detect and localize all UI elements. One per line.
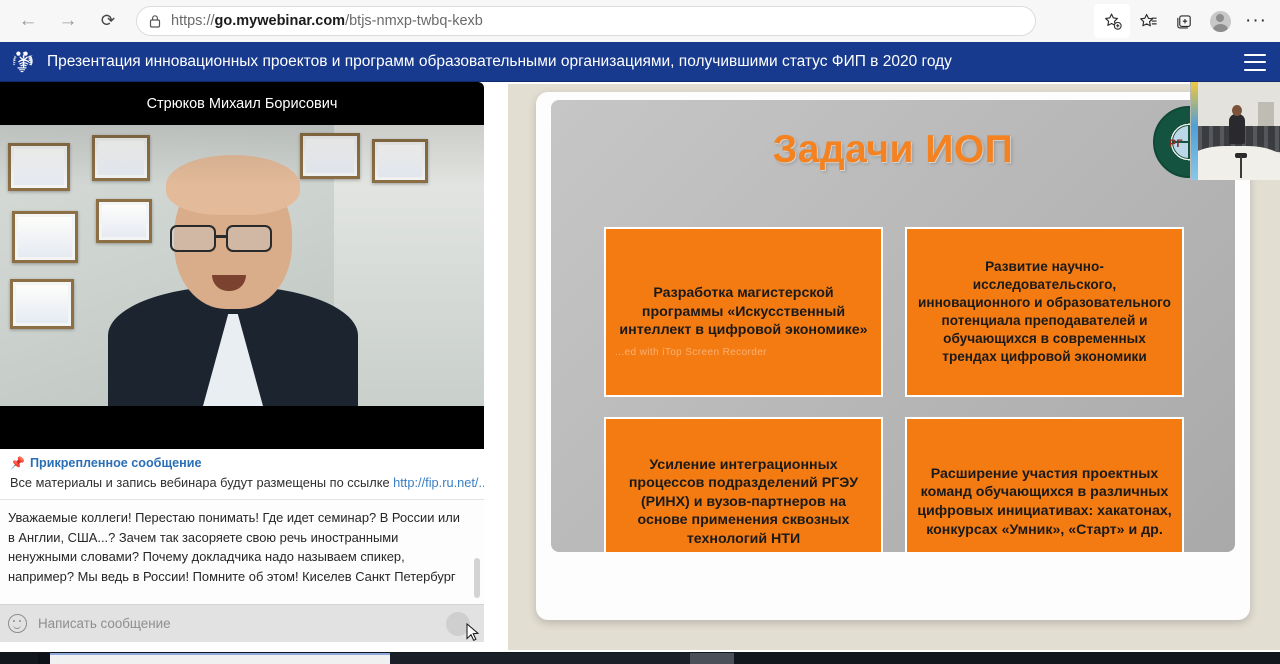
back-button[interactable]: ← (8, 4, 48, 38)
slide-title: Задачи ИОП (551, 128, 1235, 172)
webinar-title: Презентация инновационных проектов и про… (47, 53, 952, 71)
taskbar-item[interactable] (390, 653, 690, 664)
slide-backdrop: Задачи ИОП РГ ИНХ Разработка магистерско… (508, 84, 1280, 650)
slide-content[interactable]: Задачи ИОП РГ ИНХ Разработка магистерско… (551, 100, 1235, 552)
forward-button[interactable]: → (48, 4, 88, 38)
task-box: Разработка магистерской программы «Искус… (604, 227, 883, 397)
url-text: https://go.mywebinar.com/btjs-nmxp-twbq-… (171, 13, 483, 29)
settings-more-icon[interactable]: ··· (1238, 4, 1274, 38)
presentation-stage: Задачи ИОП РГ ИНХ Разработка магистерско… (484, 82, 1280, 652)
smiley-icon[interactable] (8, 614, 27, 633)
pinned-message-header: 📌 Прикрепленное сообщение (10, 456, 474, 470)
pinned-message-title: Прикрепленное сообщение (30, 456, 202, 470)
list-item: Уважаемые коллеги! Перестаю понимать! Гд… (0, 500, 484, 592)
url-path: /btjs-nmxp-twbq-kexb (345, 13, 483, 29)
pinned-message-text: Все материалы и запись вебинара будут ра… (10, 475, 393, 490)
webcam-image (0, 125, 484, 406)
pinned-message-link[interactable]: http://fip.ru.net/... (393, 475, 489, 490)
taskbar-item-active[interactable] (50, 653, 390, 664)
task-box: Развитие научно-исследовательского, инно… (905, 227, 1184, 397)
reload-button[interactable]: ⟳ (88, 4, 128, 38)
pin-icon: 📌 (10, 456, 25, 470)
url-host: go.mywebinar.com (215, 13, 346, 29)
browser-toolbar: ← → ⟳ https://go.mywebinar.com/btjs-nmxp… (0, 0, 1280, 42)
mouse-cursor (466, 623, 480, 643)
message-input[interactable]: Написать сообщение (38, 616, 446, 631)
profile-avatar[interactable] (1202, 4, 1238, 38)
task-box-text: Развитие научно-исследовательского, инно… (915, 258, 1174, 366)
url-scheme: https:// (171, 13, 215, 29)
collections-icon[interactable] (1166, 4, 1202, 38)
logo-text-main: РГ (1169, 138, 1183, 150)
speaker-video[interactable]: Стрюков Михаил Борисович (0, 82, 484, 449)
speaker-name-label: Стрюков Михаил Борисович (0, 96, 484, 112)
favorites-list-icon[interactable] (1130, 4, 1166, 38)
address-bar[interactable]: https://go.mywebinar.com/btjs-nmxp-twbq-… (136, 6, 1036, 36)
taskbar-item[interactable] (690, 653, 734, 664)
browser-actions: ··· (1094, 4, 1280, 38)
task-boxes: Разработка магистерской программы «Искус… (604, 227, 1184, 552)
task-box: Усиление интеграционных процессов подраз… (604, 417, 883, 552)
task-box-text: Расширение участия проектных команд обуч… (915, 465, 1174, 539)
pinned-message: 📌 Прикрепленное сообщение Все материалы … (0, 449, 484, 500)
webinar-header: Презентация инновационных проектов и про… (0, 42, 1280, 82)
chat-list[interactable]: Уважаемые коллеги! Перестаю понимать! Гд… (0, 500, 484, 604)
taskbar-start-button[interactable] (38, 653, 50, 664)
left-panel: Стрюков Михаил Борисович 📌 Прикрепленное… (0, 82, 484, 652)
chat-scrollbar[interactable] (474, 558, 480, 598)
task-box-text: Усиление интеграционных процессов подраз… (614, 456, 873, 549)
message-composer[interactable]: Написать сообщение (0, 604, 484, 642)
task-box-text: Разработка магистерской программы «Искус… (614, 284, 873, 340)
os-taskbar[interactable] (0, 652, 1280, 664)
secondary-camera-feed[interactable] (1190, 82, 1280, 180)
slide-card: Задачи ИОП РГ ИНХ Разработка магистерско… (536, 92, 1250, 620)
task-box: Расширение участия проектных команд обуч… (905, 417, 1184, 552)
russian-coat-of-arms-emblem (5, 45, 39, 79)
hamburger-menu-icon[interactable] (1244, 54, 1266, 71)
pinned-message-body: Все материалы и запись вебинара будут ра… (10, 475, 474, 490)
lock-icon (149, 14, 161, 28)
add-favorite-icon[interactable] (1094, 4, 1130, 38)
